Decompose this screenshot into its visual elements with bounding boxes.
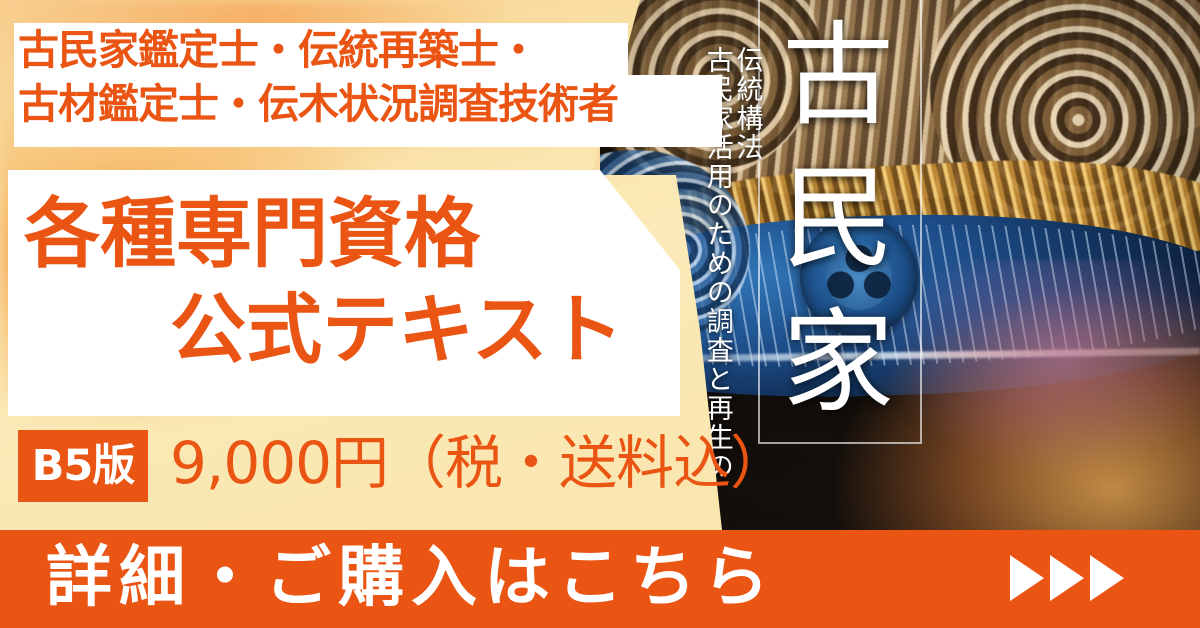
- price-text: 9,000円（税・送料込）: [170, 434, 787, 492]
- promo-banner: 古 民 家 伝統構法 古民家活用のための調査と再生の 古民家鑑定士・伝統再築士・…: [0, 0, 1200, 628]
- cta-bar[interactable]: 詳細・ご購入はこちら: [0, 530, 1200, 628]
- book-cover-title-vertical: 古 民 家: [776, 6, 900, 436]
- chevron-right-icon: [1090, 555, 1124, 601]
- headline-line-2: 公式テキスト: [170, 292, 624, 368]
- cta-arrows[interactable]: [1010, 555, 1124, 601]
- book-cover-title-char-3: 家: [776, 293, 900, 436]
- kicker-line-1: 古民家鑑定士・伝統再築士・: [18, 30, 538, 71]
- chevron-right-icon: [1050, 555, 1084, 601]
- chevron-right-icon: [1010, 555, 1044, 601]
- kicker-line-2: 古材鑑定士・伝木状況調査技術者: [18, 84, 618, 125]
- book-cover-title-char-1: 古: [776, 6, 900, 149]
- format-badge: B5版: [18, 430, 148, 502]
- format-badge-label: B5版: [32, 445, 135, 488]
- cta-label[interactable]: 詳細・ご購入はこちら: [46, 545, 776, 611]
- book-cover-title-char-2: 民: [776, 149, 900, 292]
- headline-line-1: 各種専門資格: [24, 196, 480, 272]
